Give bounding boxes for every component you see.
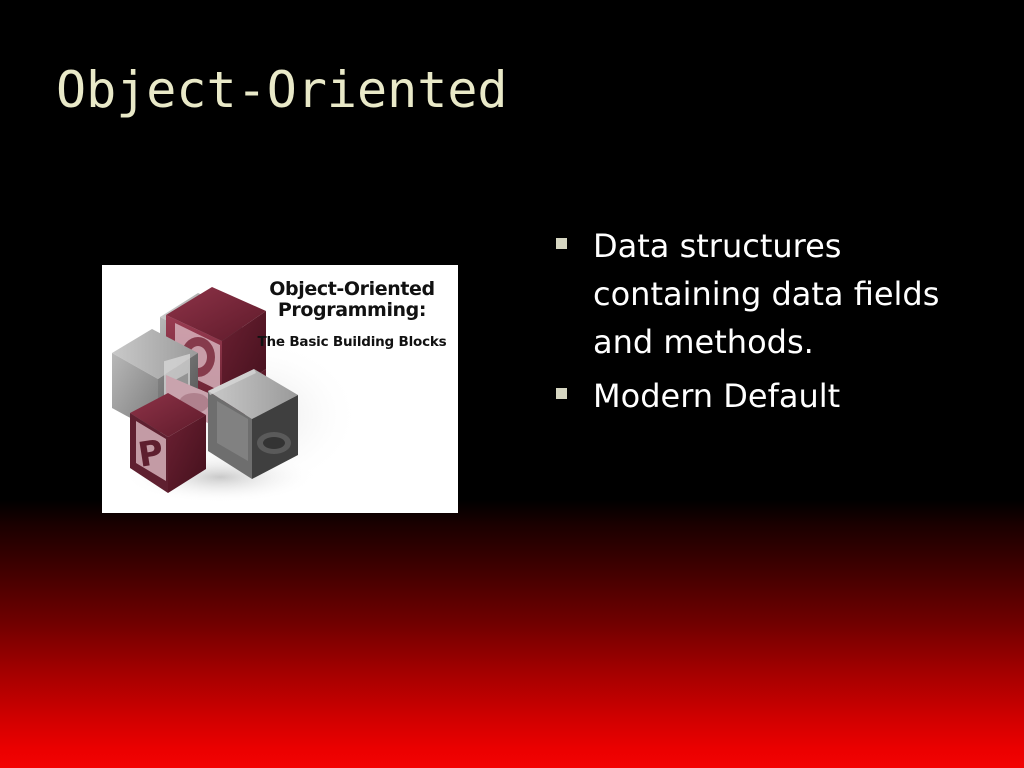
presentation-slide: Object-Oriented — [0, 0, 1024, 768]
background-red-gradient — [0, 500, 1024, 768]
list-item-label: Modern Default — [593, 372, 976, 420]
list-item: Modern Default — [556, 372, 976, 420]
square-bullet-icon — [556, 238, 567, 249]
list-item: Data structures containing data fields a… — [556, 222, 976, 366]
picture-caption: Object-Oriented Programming: The Basic B… — [252, 279, 452, 350]
caption-line-3: The Basic Building Blocks — [252, 334, 452, 350]
page-title: Object-Oriented — [56, 62, 508, 118]
oop-building-blocks-image: P Object-Oriented Programming: The Basic… — [102, 265, 458, 513]
list-item-label: Data structures containing data fields a… — [593, 222, 976, 366]
square-bullet-icon — [556, 388, 567, 399]
caption-line-2: Programming: — [252, 300, 452, 321]
bullet-list: Data structures containing data fields a… — [556, 222, 976, 426]
caption-line-1: Object-Oriented — [252, 279, 452, 300]
